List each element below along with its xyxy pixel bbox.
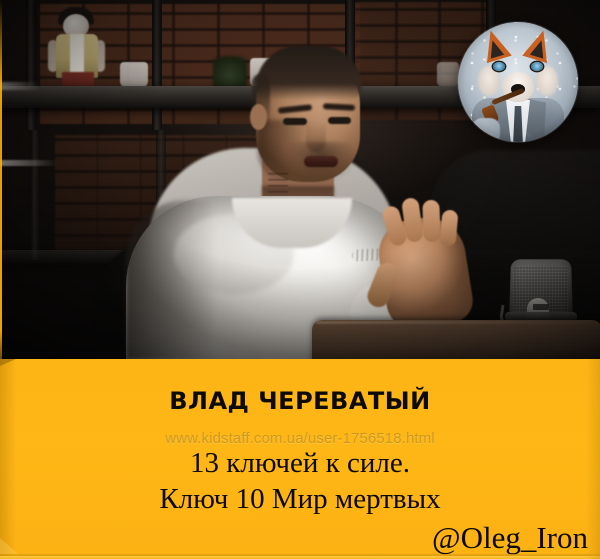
hair bbox=[256, 46, 362, 100]
finger bbox=[422, 200, 440, 243]
speaker-name: ВЛАД ЧЕРЕВАТЫЙ bbox=[0, 389, 600, 413]
speaker-photo bbox=[0, 0, 600, 359]
course-title-line-2: Ключ 10 Мир мертвых bbox=[0, 481, 600, 517]
eye bbox=[283, 118, 307, 125]
caption-band: ВЛАД ЧЕРЕВАТЫЙ www.kidstaff.com.ua/user-… bbox=[0, 359, 600, 559]
course-title-line-1: 13 ключей к силе. bbox=[190, 447, 410, 479]
left-accent-strip bbox=[0, 0, 2, 359]
ear bbox=[250, 104, 267, 130]
avatar-vignette bbox=[458, 22, 578, 142]
site-watermark: www.kidstaff.com.ua/user-1756518.html bbox=[0, 431, 600, 446]
fox-avatar[interactable] bbox=[458, 22, 578, 142]
caption-content: ВЛАД ЧЕРЕВАТЫЙ www.kidstaff.com.ua/user-… bbox=[0, 359, 600, 559]
microphone-brand-label bbox=[533, 304, 549, 310]
eye bbox=[328, 117, 351, 124]
laptop-lid bbox=[312, 320, 600, 359]
mouth bbox=[304, 156, 338, 167]
poster: ВЛАД ЧЕРЕВАТЫЙ www.kidstaff.com.ua/user-… bbox=[0, 0, 600, 559]
author-handle: @Oleg_Iron bbox=[432, 522, 588, 553]
course-title: 13 ключей к силе. Ключ 10 Мир мертвых bbox=[0, 445, 600, 518]
laptop-lid-highlight bbox=[316, 321, 598, 324]
